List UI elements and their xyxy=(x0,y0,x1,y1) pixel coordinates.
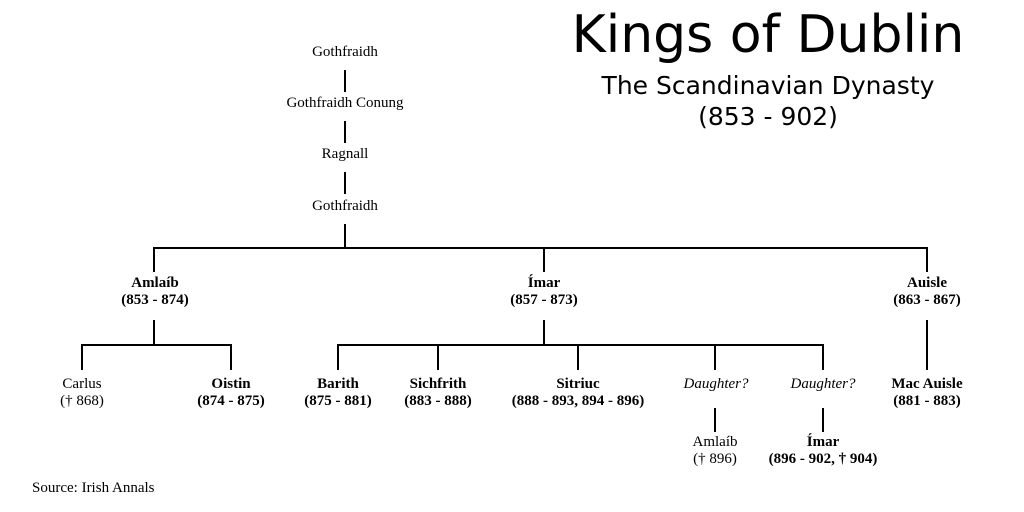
node-name: Amlaíb xyxy=(693,434,738,451)
node-name: Barith xyxy=(304,376,372,393)
node-sitriuc: Sitriuc (888 - 893, 894 - 896) xyxy=(512,376,644,410)
node-amlaib-896: Amlaíb († 896) xyxy=(693,434,738,468)
node-name: Carlus xyxy=(60,376,104,393)
node-dates: (853 - 874) xyxy=(121,292,189,309)
node-name: Gothfraidh xyxy=(312,198,378,215)
drop-sichfrith xyxy=(437,344,439,370)
node-name: Daughter? xyxy=(791,376,856,393)
node-ancestor-1: Gothfraidh xyxy=(312,44,378,61)
node-imar-857: Ímar (857 - 873) xyxy=(510,275,578,309)
node-carlus: Carlus († 868) xyxy=(60,376,104,410)
node-barith: Barith (875 - 881) xyxy=(304,376,372,410)
connector-auisle-macauisle xyxy=(926,320,928,370)
node-sichfrith: Sichfrith (883 - 888) xyxy=(404,376,472,410)
node-daughter-2: Daughter? xyxy=(791,376,856,393)
connector-daughter1-amlaib xyxy=(714,408,716,432)
node-name: Auisle xyxy=(893,275,961,292)
node-daughter-1: Daughter? xyxy=(684,376,749,393)
node-name: Amlaíb xyxy=(121,275,189,292)
drop-barith xyxy=(337,344,339,370)
node-name: Gothfraidh xyxy=(312,44,378,61)
node-dates: (875 - 881) xyxy=(304,393,372,410)
node-imar-896: Ímar (896 - 902, † 904) xyxy=(769,434,878,468)
node-name: Mac Auisle xyxy=(891,376,962,393)
node-dates: (881 - 883) xyxy=(891,393,962,410)
node-name: Ímar xyxy=(510,275,578,292)
stem-imar-children xyxy=(543,320,545,344)
node-dates: (857 - 873) xyxy=(510,292,578,309)
node-dates: († 896) xyxy=(693,451,738,468)
node-name: Sichfrith xyxy=(404,376,472,393)
sibling-bus-imar-children xyxy=(338,344,823,346)
node-dates: (874 - 875) xyxy=(197,393,265,410)
page-title: Kings of Dublin xyxy=(520,6,1016,64)
drop-imar xyxy=(543,247,545,272)
node-mac-auisle: Mac Auisle (881 - 883) xyxy=(891,376,962,410)
drop-daughter-1 xyxy=(714,344,716,370)
connector-ancestor-1-2 xyxy=(344,70,346,92)
drop-sitriuc xyxy=(577,344,579,370)
node-name: Gothfraidh Conung xyxy=(286,95,403,112)
node-dates: (896 - 902, † 904) xyxy=(769,451,878,468)
connector-ancestor4-to-bus xyxy=(344,224,346,248)
node-dates: († 868) xyxy=(60,393,104,410)
node-name: Daughter? xyxy=(684,376,749,393)
node-dates: (863 - 867) xyxy=(893,292,961,309)
drop-auisle xyxy=(926,247,928,272)
connector-daughter2-imar xyxy=(822,408,824,432)
node-ancestor-3: Ragnall xyxy=(322,146,369,163)
node-dates: (883 - 888) xyxy=(404,393,472,410)
node-oistin: Oistin (874 - 875) xyxy=(197,376,265,410)
connector-ancestor-2-3 xyxy=(344,121,346,143)
node-amlaib-853: Amlaíb (853 - 874) xyxy=(121,275,189,309)
drop-daughter-2 xyxy=(822,344,824,370)
connector-ancestor-3-4 xyxy=(344,172,346,194)
node-name: Ragnall xyxy=(322,146,369,163)
drop-amlaib xyxy=(153,247,155,272)
node-name: Ímar xyxy=(769,434,878,451)
node-name: Sitriuc xyxy=(512,376,644,393)
sibling-bus-generation2 xyxy=(154,247,927,249)
node-dates: (888 - 893, 894 - 896) xyxy=(512,393,644,410)
genealogy-chart: Kings of Dublin The Scandinavian Dynasty… xyxy=(0,0,1024,512)
sibling-bus-amlaib-children xyxy=(82,344,231,346)
subtitle-dates: (853 - 902) xyxy=(520,101,1016,132)
node-name: Oistin xyxy=(197,376,265,393)
node-auisle-863: Auisle (863 - 867) xyxy=(893,275,961,309)
drop-carlus xyxy=(81,344,83,370)
node-ancestor-2: Gothfraidh Conung xyxy=(286,95,403,112)
stem-amlaib-children xyxy=(153,320,155,344)
source-note: Source: Irish Annals xyxy=(32,480,154,497)
drop-oistin xyxy=(230,344,232,370)
subtitle: The Scandinavian Dynasty xyxy=(520,70,1016,101)
title-block: Kings of Dublin The Scandinavian Dynasty… xyxy=(520,6,1016,132)
node-ancestor-4: Gothfraidh xyxy=(312,198,378,215)
